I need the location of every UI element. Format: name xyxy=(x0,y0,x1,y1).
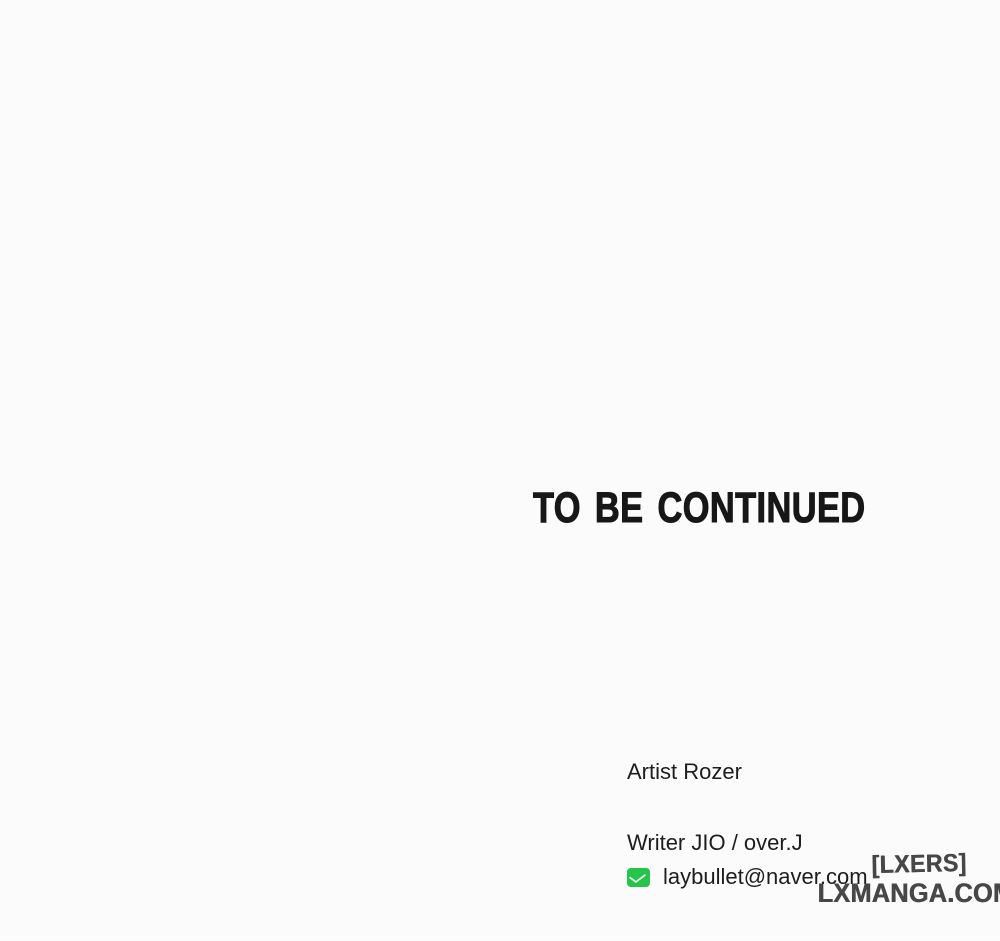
credit-email-address: laybullet@naver.com xyxy=(663,862,868,892)
credit-writer: Writer JIO / over.J xyxy=(627,828,987,858)
credit-email-row: laybullet@naver.com xyxy=(627,862,987,892)
comic-end-page: To be continued Artist Rozer Writer JIO … xyxy=(0,0,1000,941)
page-title: To be continued xyxy=(533,466,882,536)
credits-block: Artist Rozer Writer JIO / over.J laybull… xyxy=(627,757,987,892)
envelope-icon xyxy=(627,868,650,887)
credit-artist: Artist Rozer xyxy=(627,757,987,787)
